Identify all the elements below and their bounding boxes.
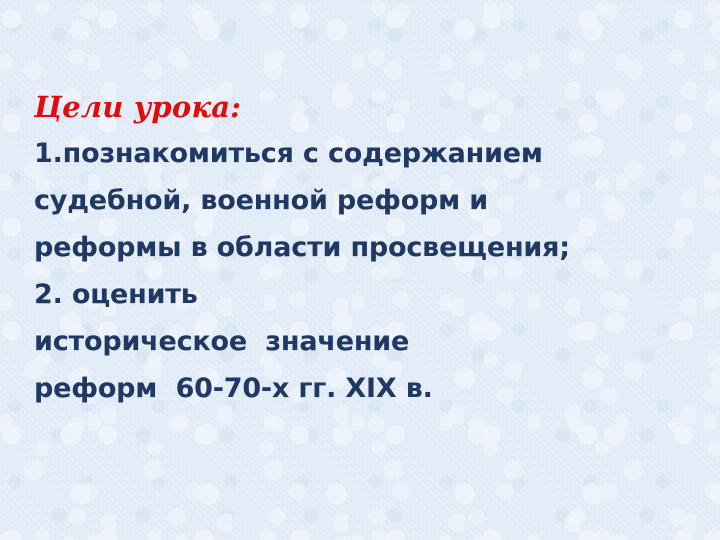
slide-heading: Цели урока:: [34, 84, 710, 130]
goal-line-6: реформ 60-70-х гг. XIX в.: [34, 365, 710, 412]
goal-line-2: судебной, военной реформ и: [34, 177, 710, 224]
goal-line-5: историческое значение: [34, 318, 710, 365]
goal-line-4: 2. оценить: [34, 271, 710, 318]
presentation-slide: Цели урока: 1.познакомиться с содержание…: [0, 0, 720, 540]
goals-list: 1.познакомиться с содержанием судебной, …: [34, 130, 710, 412]
goal-line-1: 1.познакомиться с содержанием: [34, 130, 710, 177]
goal-line-3: реформы в области просвещения;: [34, 224, 710, 271]
slide-content: Цели урока: 1.познакомиться с содержание…: [34, 84, 710, 412]
